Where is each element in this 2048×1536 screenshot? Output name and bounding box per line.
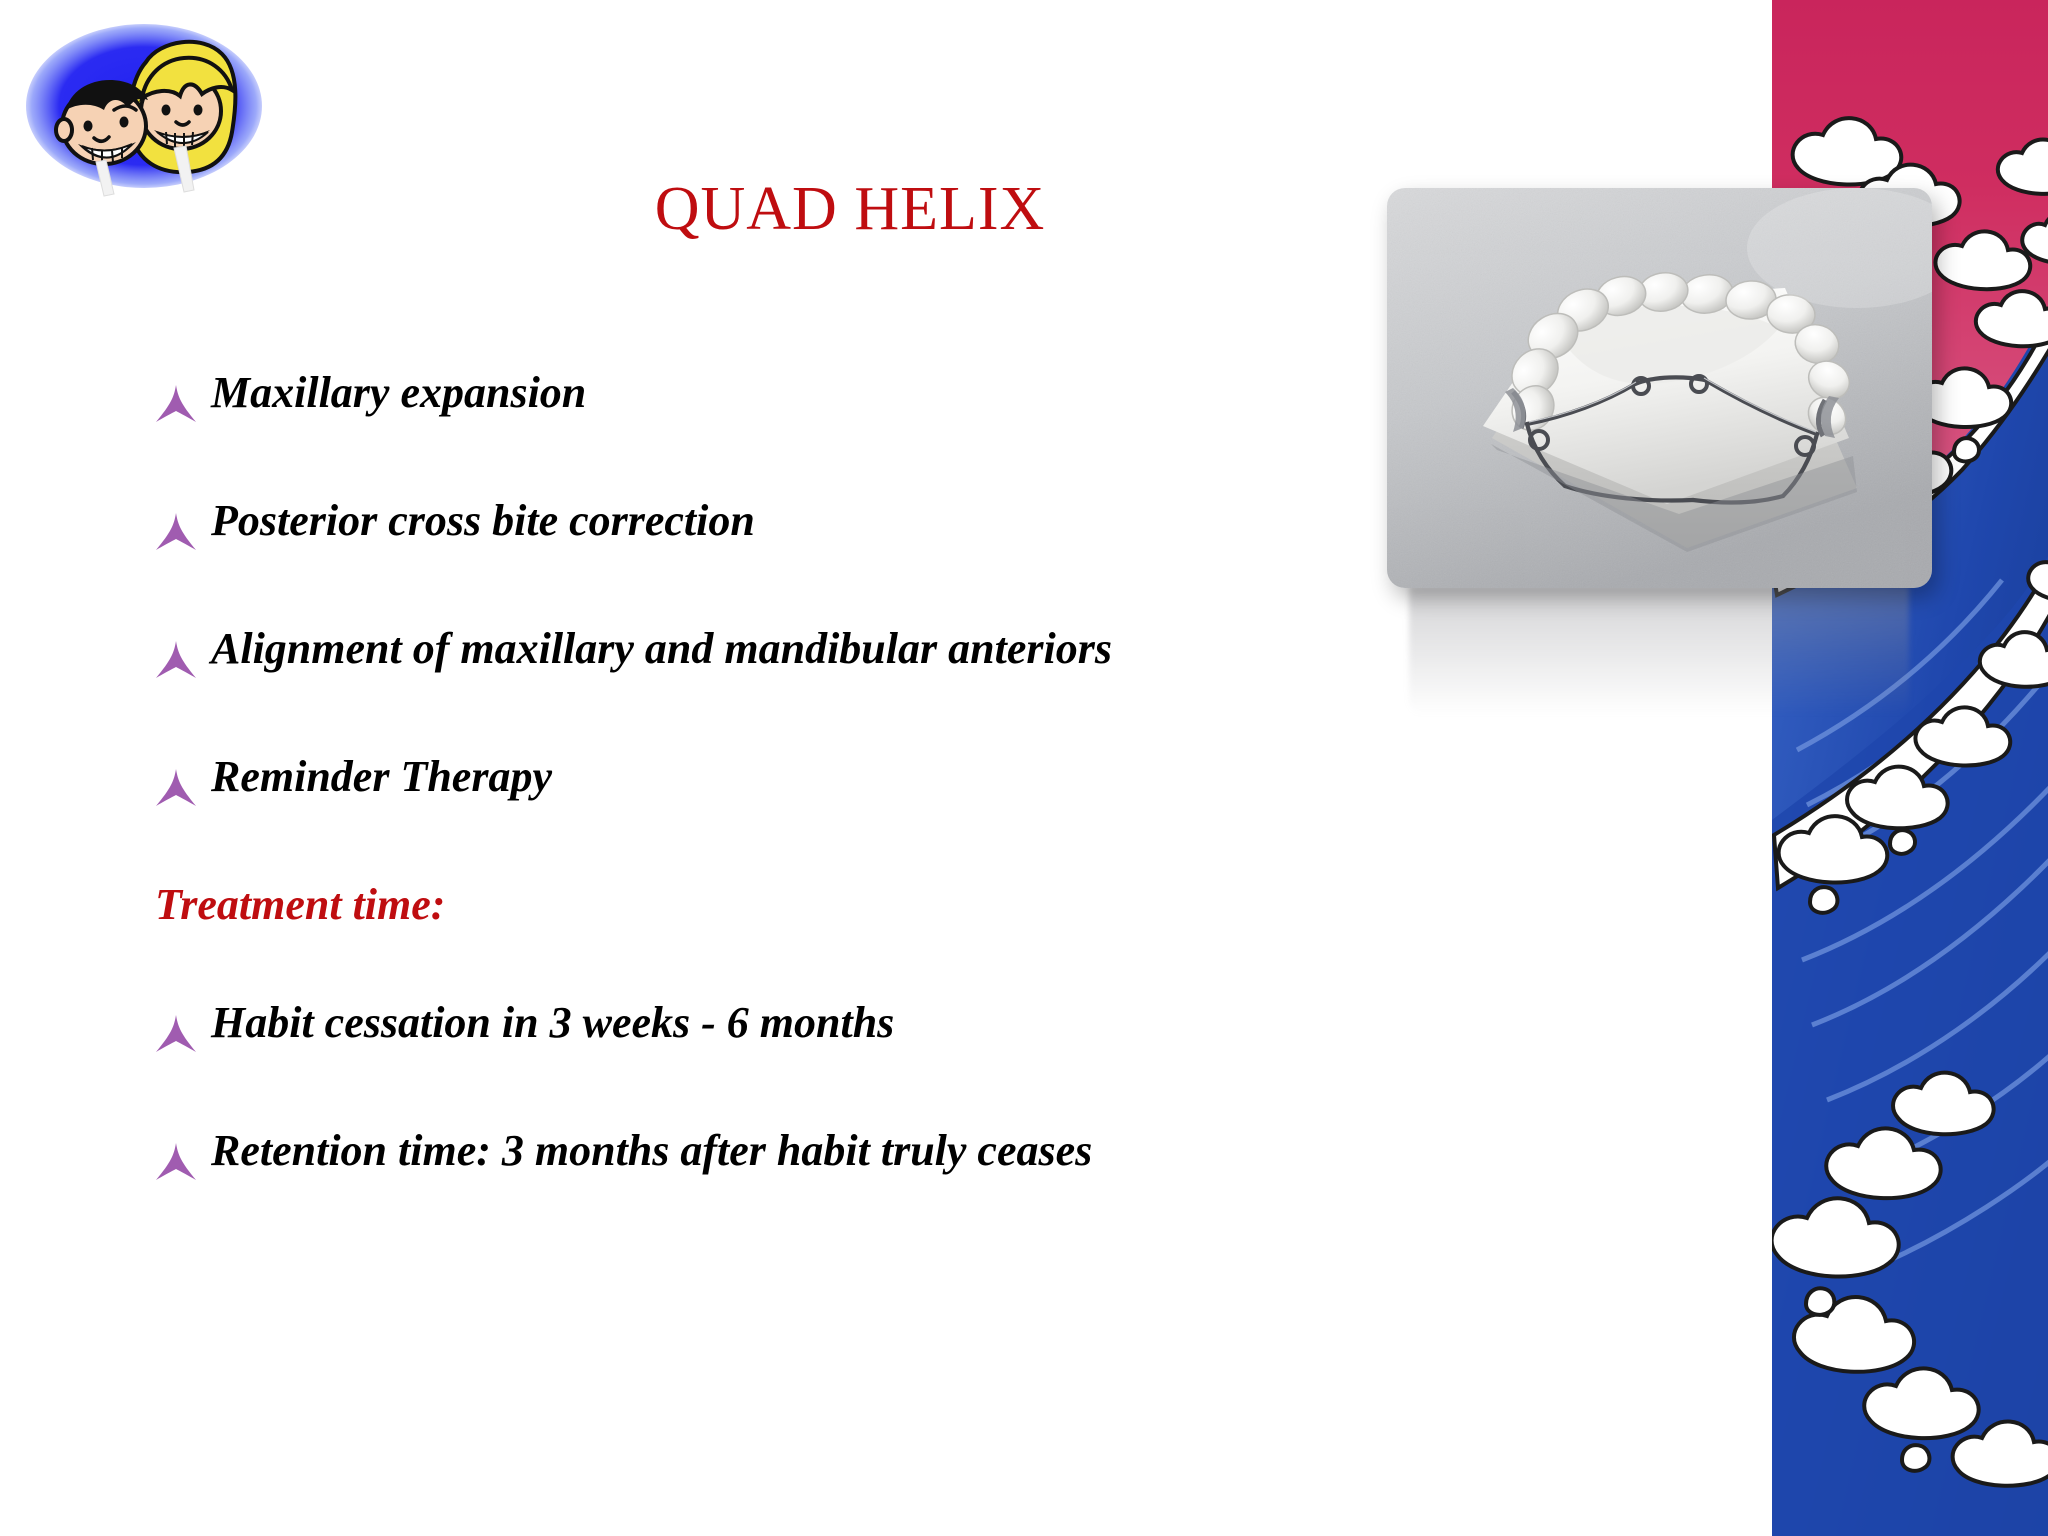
purple-three-point-star-bullet-icon: [155, 768, 197, 808]
list-item: Posterior cross bite correction: [155, 498, 1475, 564]
list-item: Reminder Therapy: [155, 754, 1475, 820]
bullet-list: Maxillary expansion Posterior cross bite…: [155, 370, 1475, 1194]
purple-three-point-star-bullet-icon: [155, 640, 197, 680]
purple-three-point-star-bullet-icon: [155, 512, 197, 552]
list-item-label: Reminder Therapy: [211, 754, 552, 800]
list-item: Habit cessation in 3 weeks - 6 months: [155, 1000, 1475, 1066]
page-title: QUAD HELIX: [400, 178, 1300, 240]
list-item: Maxillary expansion: [155, 370, 1475, 436]
purple-three-point-star-bullet-icon: [155, 384, 197, 424]
list-item-label: Retention time: 3 months after habit tru…: [211, 1128, 1092, 1174]
list-item-label: Posterior cross bite correction: [211, 498, 755, 544]
two-smiling-children-logo: [16, 18, 284, 198]
list-item: Alignment of maxillary and mandibular an…: [155, 626, 1475, 692]
list-item-label: Alignment of maxillary and mandibular an…: [211, 626, 1112, 672]
photo-reflection: [1409, 586, 1909, 716]
purple-three-point-star-bullet-icon: [155, 1014, 197, 1054]
list-item: Retention time: 3 months after habit tru…: [155, 1128, 1475, 1194]
list-item-label: Maxillary expansion: [211, 370, 586, 416]
section-heading: Treatment time:: [155, 882, 1475, 942]
purple-three-point-star-bullet-icon: [155, 1142, 197, 1182]
slide-canvas: QUAD HELIX: [0, 0, 2048, 1536]
section-heading-label: Treatment time:: [155, 882, 445, 928]
list-item-label: Habit cessation in 3 weeks - 6 months: [211, 1000, 894, 1046]
